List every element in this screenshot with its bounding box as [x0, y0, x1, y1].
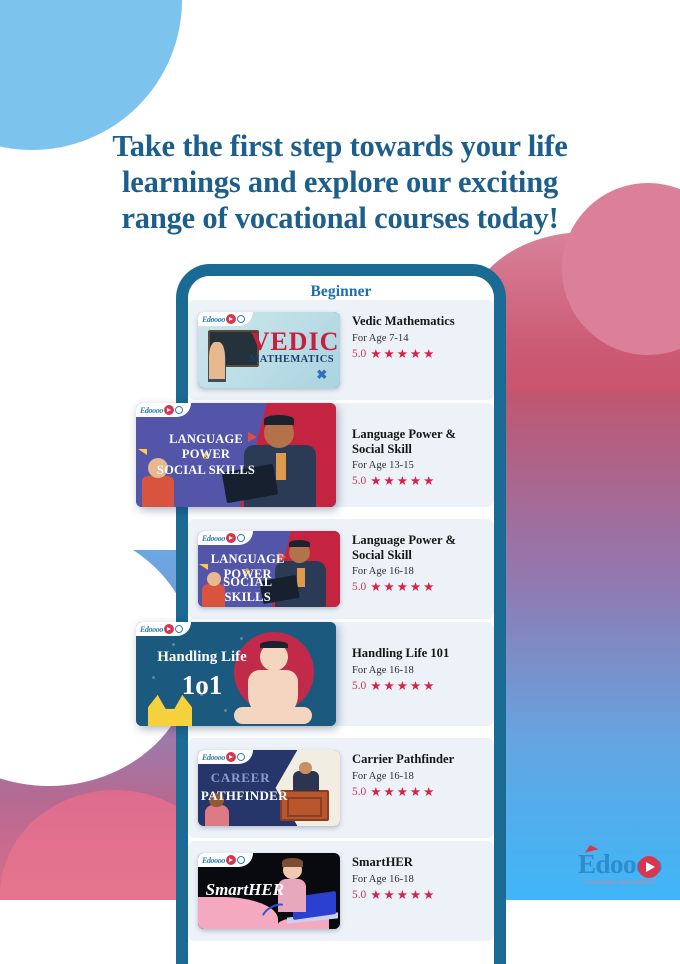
star-icon: ★	[423, 581, 434, 594]
list-item[interactable]: SmartHER Edoooo SmartHER For Age 16-18 5…	[176, 841, 506, 943]
tie-shape	[297, 568, 304, 588]
kid-body-shape	[142, 476, 174, 507]
rating: 5.0 ★ ★ ★ ★ ★	[352, 786, 490, 799]
course-age-range: For Age 16-18	[352, 874, 490, 885]
brand-badge-word: Edoooo	[202, 856, 225, 865]
thumbnail-art-handling-life: Handling Life 1o1	[136, 622, 336, 726]
thumb-title-line2: 1o1	[144, 672, 260, 699]
thumbnail-art-language: LANGUAGE POWER & SOCIAL SKILLS	[136, 403, 336, 507]
rating-score: 5.0	[352, 680, 366, 692]
star-icon: ★	[410, 475, 421, 488]
brand-badge: Edoooo	[198, 312, 253, 326]
course-meta: Vedic Mathematics For Age 7-14 5.0 ★ ★ ★…	[352, 314, 490, 360]
thumb-title-line2: SOCIAL SKILLS	[204, 575, 292, 605]
brand-badge: Edoooo	[136, 622, 191, 636]
play-icon	[226, 855, 236, 865]
circle-icon	[237, 534, 245, 542]
circle-icon	[237, 753, 245, 761]
course-age-range: For Age 16-18	[352, 665, 490, 676]
list-item[interactable]: LANGUAGE POWER & SOCIAL SKILLS Edoooo La…	[176, 519, 506, 621]
list-item[interactable]: Handling Life 1o1 Edoooo Handling Life 1…	[176, 622, 506, 737]
star-icon: ★	[397, 680, 408, 693]
star-icon: ★	[397, 889, 408, 902]
play-icon	[164, 624, 174, 634]
rating: 5.0 ★ ★ ★ ★ ★	[352, 680, 490, 693]
course-title: Vedic Mathematics	[352, 314, 490, 329]
brand-badge: Edoooo	[198, 750, 253, 764]
thumb-title-line2: SOCIAL SKILLS	[144, 463, 268, 478]
page-headline: Take the first step towards your life le…	[0, 128, 680, 236]
girl-body-shape	[205, 805, 229, 826]
dot-decoration	[240, 637, 243, 640]
circle-icon	[175, 406, 183, 414]
rating: 5.0 ★ ★ ★ ★ ★	[352, 348, 490, 361]
course-meta: Language Power & Social Skill For Age 13…	[352, 427, 490, 488]
star-icon: ★	[397, 348, 408, 361]
course-meta: SmartHER For Age 16-18 5.0 ★ ★ ★ ★ ★	[352, 855, 490, 901]
headline-line-3: range of vocational courses today!	[0, 200, 680, 236]
course-thumbnail[interactable]: SmartHER Edoooo	[198, 853, 340, 929]
play-icon	[226, 314, 236, 324]
person-body-shape	[293, 771, 319, 791]
circle-icon	[237, 856, 245, 864]
star-icon: ★	[410, 889, 421, 902]
thumb-title-line1: SmartHER	[201, 880, 289, 900]
circle-icon	[175, 625, 183, 633]
circle-icon	[237, 315, 245, 323]
star-icon: ★	[410, 680, 421, 693]
list-item[interactable]: CAREER PATHFINDER Edoooo Carrier Pathfin…	[176, 738, 506, 840]
course-age-range: For Age 16-18	[352, 566, 490, 577]
brand-badge-word: Edoooo	[202, 315, 225, 324]
course-title: Carrier Pathfinder	[352, 752, 490, 767]
rating: 5.0 ★ ★ ★ ★ ★	[352, 581, 490, 594]
dot-decoration	[224, 709, 227, 712]
thumb-ampersand: &	[144, 452, 268, 461]
star-icon: ★	[370, 889, 381, 902]
person-head-shape	[299, 762, 312, 775]
play-icon	[164, 405, 174, 415]
woman-hair-shape	[282, 858, 303, 866]
course-thumbnail[interactable]: LANGUAGE POWER & SOCIAL SKILLS Edoooo	[136, 403, 336, 507]
teacher-head-shape	[209, 342, 225, 378]
rating: 5.0 ★ ★ ★ ★ ★	[352, 475, 490, 488]
headline-line-2: learnings and explore our exciting	[0, 164, 680, 200]
course-title: Language Power & Social Skill	[352, 427, 490, 456]
star-icon: ★	[410, 786, 421, 799]
course-thumbnail[interactable]: LANGUAGE POWER & SOCIAL SKILLS Edoooo	[198, 531, 340, 607]
course-age-range: For Age 13-15	[352, 460, 490, 471]
brand-badge-word: Edoooo	[140, 406, 163, 415]
brand-badge-word: Edoooo	[202, 534, 225, 543]
star-icon: ★	[370, 680, 381, 693]
brand-logo: Edoooo Learnings that matter!	[578, 849, 662, 886]
course-meta: Handling Life 101 For Age 16-18 5.0 ★ ★ …	[352, 646, 490, 692]
star-icon: ★	[370, 475, 381, 488]
headline-line-1: Take the first step towards your life	[0, 128, 680, 164]
course-thumbnail[interactable]: CAREER PATHFINDER Edoooo	[198, 750, 340, 826]
thumb-title-line1: VEDIC	[251, 327, 336, 357]
star-icon: ★	[397, 475, 408, 488]
course-meta: Language Power & Social Skill For Age 16…	[352, 533, 490, 594]
star-icon: ★	[370, 581, 381, 594]
star-icon: ★	[423, 680, 434, 693]
course-title: Language Power & Social Skill	[352, 533, 490, 562]
logo-wordmark-row: Edoooo	[578, 849, 662, 880]
course-age-range: For Age 16-18	[352, 771, 490, 782]
rating-score: 5.0	[352, 786, 366, 798]
man-hair-shape	[264, 415, 294, 424]
star-icon: ★	[383, 889, 394, 902]
man-hair-shape	[289, 540, 310, 547]
star-icon: ★	[423, 348, 434, 361]
brand-badge: Edoooo	[198, 531, 253, 545]
star-icon: ★	[423, 475, 434, 488]
star-icon: ★	[383, 680, 394, 693]
course-list[interactable]: VEDIC MATHEMATICS ✖ Edoooo Vedic Mathema…	[176, 300, 506, 944]
rating-score: 5.0	[352, 475, 366, 487]
rating-score: 5.0	[352, 889, 366, 901]
brand-badge-word: Edoooo	[202, 753, 225, 762]
star-icon: ★	[410, 581, 421, 594]
list-item[interactable]: VEDIC MATHEMATICS ✖ Edoooo Vedic Mathema…	[176, 300, 506, 402]
thumb-title-line2: PATHFINDER	[201, 788, 283, 804]
star-icon: ★	[423, 786, 434, 799]
course-age-range: For Age 7-14	[352, 333, 490, 344]
course-meta: Carrier Pathfinder For Age 16-18 5.0 ★ ★…	[352, 752, 490, 798]
course-title: Handling Life 101	[352, 646, 490, 661]
course-thumbnail[interactable]: VEDIC MATHEMATICS ✖ Edoooo	[198, 312, 340, 388]
star-icon: ★	[397, 786, 408, 799]
tie-shape	[276, 453, 286, 480]
rating-score: 5.0	[352, 581, 366, 593]
brand-badge-word: Edoooo	[140, 625, 163, 634]
course-thumbnail[interactable]: Handling Life 1o1 Edoooo	[136, 622, 336, 726]
star-icon: ★	[423, 889, 434, 902]
play-icon	[226, 752, 236, 762]
course-title: SmartHER	[352, 855, 490, 870]
thumb-title-line2: MATHEMATICS	[248, 354, 336, 365]
desk-panel-shape	[287, 797, 321, 817]
star-icon: ★	[383, 475, 394, 488]
star-icon: ★	[397, 581, 408, 594]
thumb-title-line1: Handling Life	[144, 649, 260, 666]
star-icon: ★	[383, 348, 394, 361]
star-icon: ★	[370, 786, 381, 799]
list-item[interactable]: LANGUAGE POWER & SOCIAL SKILLS Edoooo La…	[176, 403, 506, 518]
star-icon: ★	[383, 786, 394, 799]
star-icon: ★	[370, 348, 381, 361]
dot-decoration	[172, 643, 175, 646]
brand-badge: Edoooo	[136, 403, 191, 417]
rating: 5.0 ★ ★ ★ ★ ★	[352, 889, 490, 902]
thumb-title-line1: CAREER	[201, 770, 281, 786]
play-icon	[226, 533, 236, 543]
star-icon: ★	[410, 348, 421, 361]
yogi-hair-shape	[260, 641, 288, 648]
star-icon: ★	[383, 581, 394, 594]
play-icon	[638, 856, 660, 878]
rating-score: 5.0	[352, 348, 366, 360]
brand-badge: Edoooo	[198, 853, 253, 867]
math-symbol-icon: ✖	[316, 367, 327, 383]
